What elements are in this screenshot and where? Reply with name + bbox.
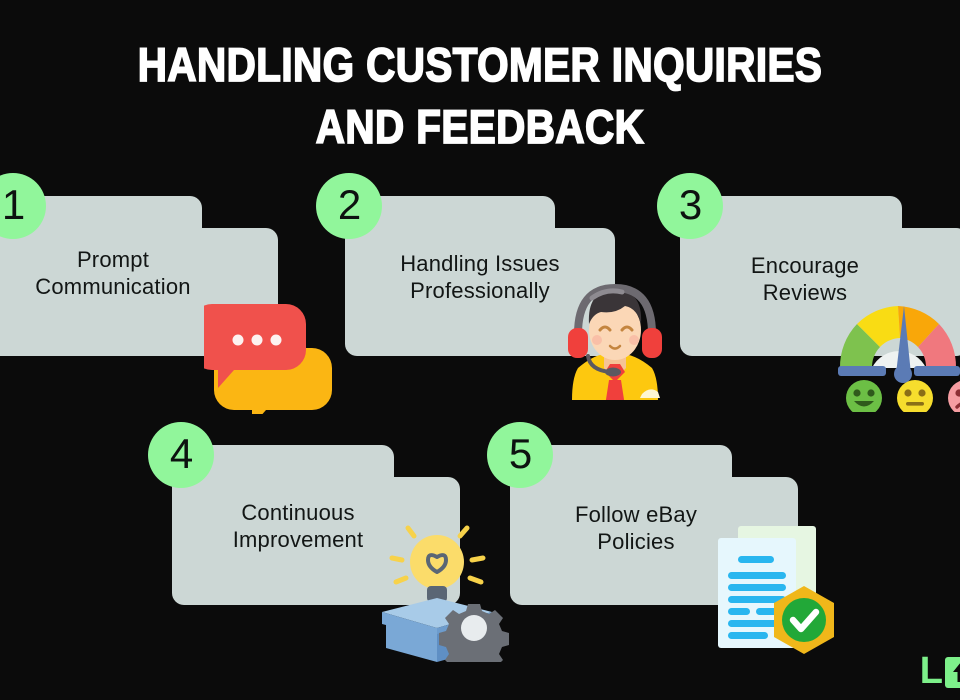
card-body-3: [680, 228, 960, 356]
infographic-canvas: HANDLING CUSTOMER INQUIRIES AND FEEDBACK…: [0, 0, 960, 700]
card-body-2: [345, 228, 615, 356]
step-badge-3[interactable]: 3: [657, 173, 723, 239]
step-badge-4-number: 4: [170, 433, 192, 475]
logo-letter: L: [920, 654, 942, 688]
card-body-4: [172, 477, 460, 605]
step-badge-3-number: 3: [679, 184, 701, 226]
home-arrow-icon: [945, 657, 960, 688]
page-title: HANDLING CUSTOMER INQUIRIES AND FEEDBACK: [0, 34, 960, 158]
title-line-2: AND FEEDBACK: [67, 96, 893, 158]
step-badge-5-number: 5: [509, 433, 531, 475]
step-card-3[interactable]: Encourage Reviews: [680, 196, 960, 356]
step-badge-5[interactable]: 5: [487, 422, 553, 488]
brand-logo[interactable]: L: [920, 654, 960, 688]
card-body-1: [0, 228, 278, 356]
title-line-1: HANDLING CUSTOMER INQUIRIES: [67, 34, 893, 96]
step-card-4[interactable]: Continuous Improvement: [172, 445, 460, 605]
step-card-5[interactable]: Follow eBay Policies: [510, 445, 798, 605]
step-badge-2-number: 2: [338, 184, 360, 226]
card-body-5: [510, 477, 798, 605]
step-badge-4[interactable]: 4: [148, 422, 214, 488]
step-badge-2[interactable]: 2: [316, 173, 382, 239]
step-badge-1-number: 1: [2, 184, 24, 226]
step-card-2[interactable]: Handling Issues Professionally: [345, 196, 615, 356]
